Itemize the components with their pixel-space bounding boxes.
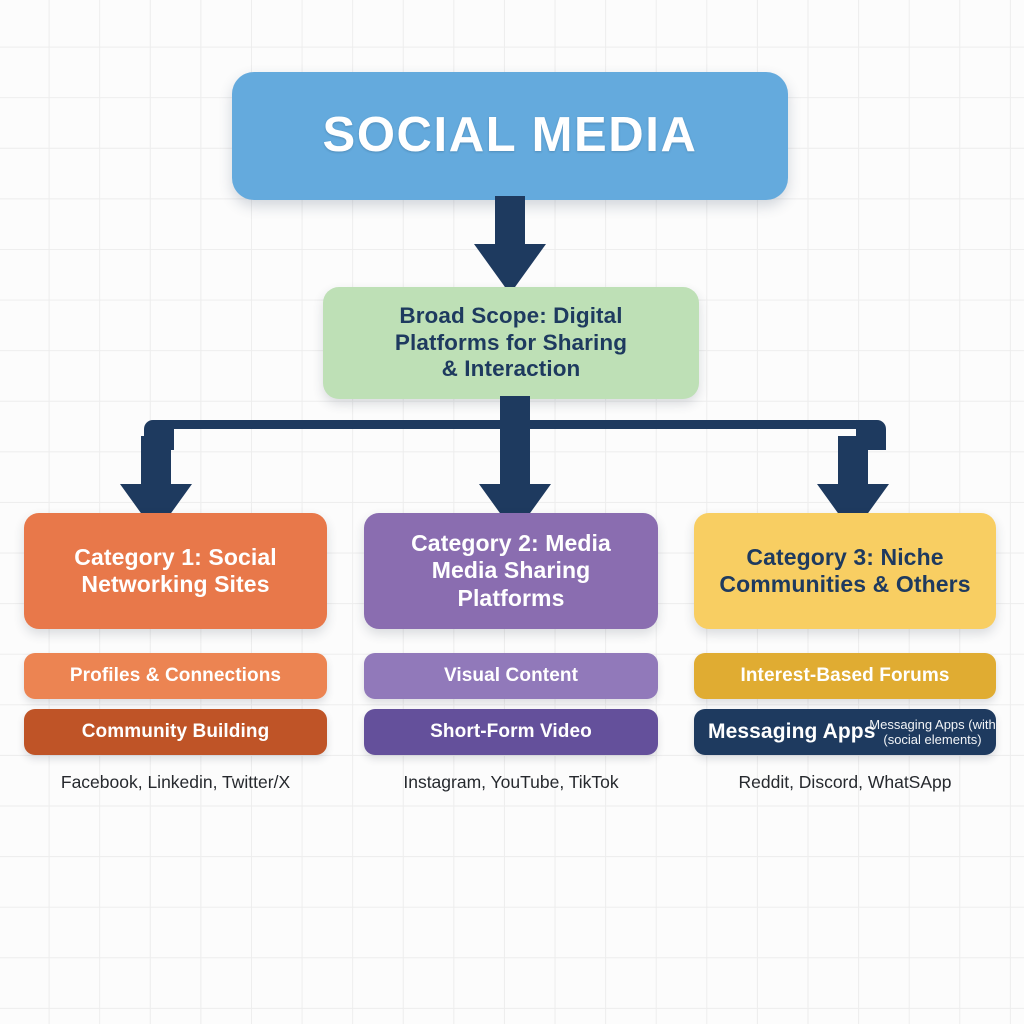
category-3-line-1: Category 3: Niche xyxy=(746,544,943,570)
sub-item-label: Visual Content xyxy=(444,665,578,687)
diagram-canvas: SOCIAL MEDIA Broad Scope: Digital Platfo… xyxy=(0,0,1024,1024)
sub-item-profiles-connections: Profiles & Connections xyxy=(24,653,327,699)
sub-item-label: Profiles & Connections xyxy=(70,665,281,687)
sub-item-label: Interest-Based Forums xyxy=(740,665,949,687)
category-box-2: Category 2: Media Media Sharing Platform… xyxy=(364,513,658,629)
arrow-scope-to-categories xyxy=(120,396,910,518)
sub-item-visual-content: Visual Content xyxy=(364,653,658,699)
sub-item-short-form-video: Short-Form Video xyxy=(364,709,658,755)
title-box: SOCIAL MEDIA xyxy=(232,72,788,200)
examples-text: Instagram, YouTube, TikTok xyxy=(403,772,618,793)
sub-item-label: Messaging Apps xyxy=(708,720,875,745)
category-1-text: Category 1: Social Networking Sites xyxy=(74,544,276,598)
category-3-text: Category 3: Niche Communities & Others xyxy=(719,544,970,598)
category-2-text: Category 2: Media Media Sharing Platform… xyxy=(411,530,611,611)
scope-text: Broad Scope: Digital Platforms for Shari… xyxy=(395,303,627,383)
examples-caption-3: Reddit, Discord, WhatSApp xyxy=(694,770,996,794)
category-2-line-1: Category 2: Media xyxy=(411,530,611,556)
category-2-line-3: Platforms xyxy=(458,585,565,611)
category-3-line-2: Communities & Others xyxy=(719,571,970,597)
scope-line-2: Platforms for Sharing xyxy=(395,330,627,355)
scope-line-1: Broad Scope: Digital xyxy=(399,303,622,328)
sub-item-label: Short-Form Video xyxy=(430,721,592,743)
arrow-title-to-scope xyxy=(440,196,580,296)
sub-item-community-building: Community Building xyxy=(24,709,327,755)
scope-box: Broad Scope: Digital Platforms for Shari… xyxy=(323,287,699,399)
title-text: SOCIAL MEDIA xyxy=(323,107,698,165)
examples-caption-1: Facebook, Linkedin, Twitter/X xyxy=(24,770,327,794)
examples-text: Reddit, Discord, WhatSApp xyxy=(738,772,951,793)
sub-item-interest-based-forums: Interest-Based Forums xyxy=(694,653,996,699)
sub-item-label: Community Building xyxy=(82,721,270,743)
examples-caption-2: Instagram, YouTube, TikTok xyxy=(364,770,658,794)
category-1-line-2: Networking Sites xyxy=(81,571,269,597)
sub-item-messaging-apps: Messaging Apps xyxy=(694,709,996,755)
category-box-3: Category 3: Niche Communities & Others xyxy=(694,513,996,629)
category-2-line-2: Media Sharing xyxy=(432,557,591,583)
scope-line-3: & Interaction xyxy=(442,356,581,381)
category-1-line-1: Category 1: Social xyxy=(74,544,276,570)
examples-text: Facebook, Linkedin, Twitter/X xyxy=(61,772,290,793)
category-box-1: Category 1: Social Networking Sites xyxy=(24,513,327,629)
